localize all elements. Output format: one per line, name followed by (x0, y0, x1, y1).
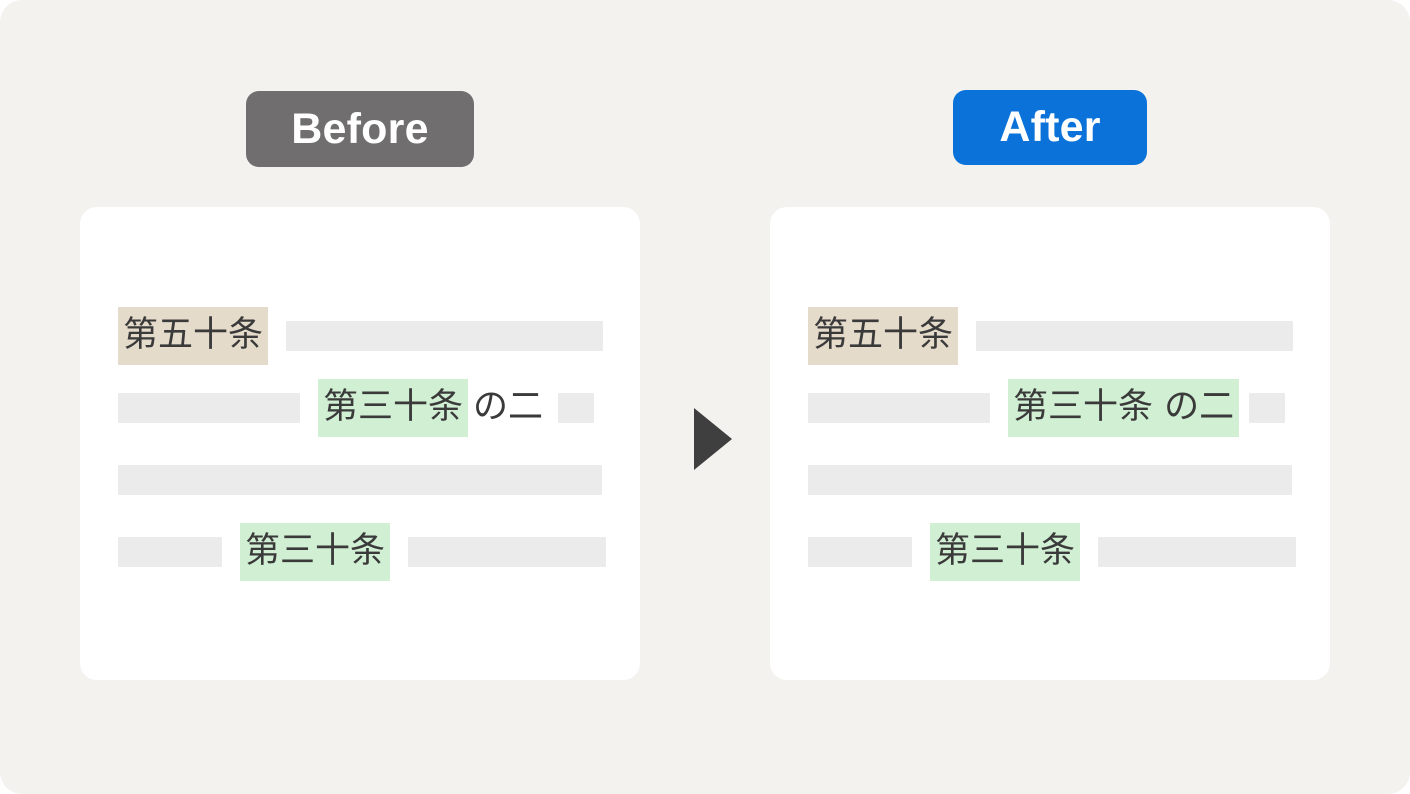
article-reference-highlight-green[interactable]: 第三十条 (318, 379, 468, 437)
article-reference-highlight-green[interactable]: 第三十条 (930, 523, 1080, 581)
placeholder-bar (808, 465, 1292, 495)
placeholder-bar (808, 393, 990, 423)
placeholder-bar (558, 393, 594, 423)
document-line: 第三十条 の二 (808, 379, 1292, 437)
article-reference-highlight-green[interactable]: 第三十条 の二 (1008, 379, 1239, 437)
article-reference-highlight-green[interactable]: 第三十条 (240, 523, 390, 581)
triangle-right-icon (693, 408, 733, 470)
placeholder-bar (118, 465, 602, 495)
badge-before: Before (246, 91, 474, 167)
document-line (808, 451, 1292, 509)
comparison-page: Before After 第五十条第三十条の二第三十条 第五十条第三十条 の二第… (0, 0, 1410, 794)
document-line (118, 451, 602, 509)
document-line: 第三十条 (808, 523, 1292, 581)
document-line: 第三十条の二 (118, 379, 602, 437)
placeholder-bar (286, 321, 603, 351)
placeholder-bar (118, 537, 222, 567)
placeholder-bar (1098, 537, 1296, 567)
article-reference-highlight-beige[interactable]: 第五十条 (808, 307, 958, 365)
article-reference-highlight-beige[interactable]: 第五十条 (118, 307, 268, 365)
placeholder-bar (1249, 393, 1285, 423)
document-line: 第五十条 (118, 307, 602, 365)
before-card: 第五十条第三十条の二第三十条 (80, 207, 640, 680)
after-document-lines: 第五十条第三十条 の二第三十条 (808, 307, 1292, 581)
document-line: 第五十条 (808, 307, 1292, 365)
placeholder-bar (118, 393, 300, 423)
badge-after: After (953, 90, 1147, 165)
placeholder-bar (808, 537, 912, 567)
article-text-plain: の二 (468, 379, 548, 437)
document-line: 第三十条 (118, 523, 602, 581)
after-card: 第五十条第三十条 の二第三十条 (770, 207, 1330, 680)
placeholder-bar (976, 321, 1293, 351)
placeholder-bar (408, 537, 606, 567)
before-document-lines: 第五十条第三十条の二第三十条 (118, 307, 602, 581)
